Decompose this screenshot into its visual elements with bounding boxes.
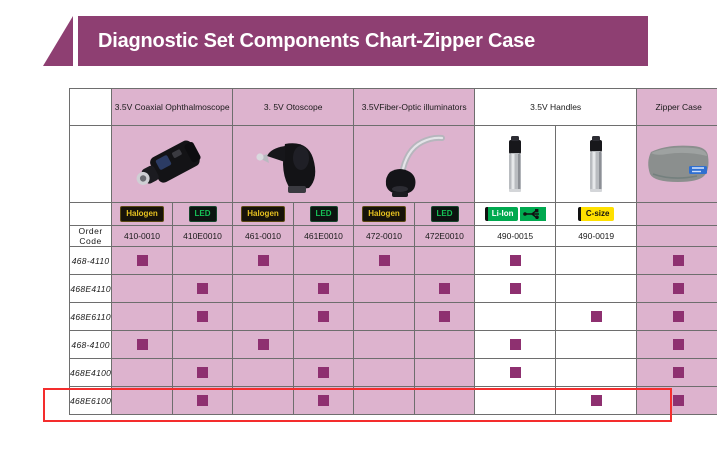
cell-mark <box>414 331 474 359</box>
badge-row-label-cell <box>70 203 112 226</box>
usb-icon <box>520 207 546 221</box>
banner-accent-triangle <box>43 16 73 66</box>
mark-dot <box>137 255 148 266</box>
cell-mark <box>172 331 232 359</box>
order-code-label: Order Code <box>70 226 112 247</box>
badge-cell-led-1: LED <box>172 203 232 226</box>
mark-dot <box>510 283 521 294</box>
mark-dot <box>439 311 450 322</box>
order-code-cell: 410E0010 <box>172 226 232 247</box>
mark-dot <box>318 395 329 406</box>
cell-mark <box>556 331 637 359</box>
table-order-code-row: Order Code 410-0010 410E0010 461-0010 46… <box>70 226 717 247</box>
cell-mark <box>112 387 173 415</box>
cell-mark <box>414 359 474 387</box>
mark-dot <box>137 339 148 350</box>
cell-mark <box>556 247 637 275</box>
page-title: Diagnostic Set Components Chart-Zipper C… <box>78 30 535 53</box>
cell-mark <box>112 247 173 275</box>
handle-c-size-icon <box>556 126 637 203</box>
mark-dot <box>439 283 450 294</box>
cell-mark <box>556 387 637 415</box>
mark-dot <box>197 311 208 322</box>
mark-dot <box>197 367 208 378</box>
badge-halogen: Halogen <box>241 206 285 222</box>
cell-mark <box>354 247 415 275</box>
cell-mark <box>556 303 637 331</box>
badge-halogen: Halogen <box>362 206 406 222</box>
cell-mark <box>112 275 173 303</box>
cell-mark <box>172 359 232 387</box>
ophthalmoscope-icon <box>112 126 233 203</box>
cell-mark <box>414 303 474 331</box>
badge-cell-c-size: C-size <box>556 203 637 226</box>
order-code-cell: 490-0015 <box>475 226 556 247</box>
cell-mark <box>354 359 415 387</box>
mark-dot <box>197 395 208 406</box>
badge-cell-halogen-3: Halogen <box>354 203 415 226</box>
badge-halogen: Halogen <box>120 206 164 222</box>
cell-mark <box>293 247 353 275</box>
mark-dot <box>673 367 684 378</box>
cell-mark <box>112 331 173 359</box>
cell-mark <box>233 247 294 275</box>
order-code-cell: 461-0010 <box>233 226 294 247</box>
cell-mark <box>637 331 717 359</box>
order-code-cell: 490-0019 <box>556 226 637 247</box>
badge-cell-led-2: LED <box>293 203 353 226</box>
handle-li-ion-icon <box>475 126 556 203</box>
banner-bar: Diagnostic Set Components Chart-Zipper C… <box>78 16 648 66</box>
table-row: 468E4100 <box>70 359 717 387</box>
table-row-highlighted: 468E6100 <box>70 387 717 415</box>
cell-mark <box>293 359 353 387</box>
cell-mark <box>112 359 173 387</box>
badge-li-ion: Li-Ion <box>485 207 518 221</box>
fiber-optic-illuminator-icon <box>354 126 475 203</box>
row-model-label: 468E4100 <box>70 359 112 387</box>
cell-mark <box>637 275 717 303</box>
cell-mark <box>233 303 294 331</box>
cell-mark <box>172 275 232 303</box>
badge-led: LED <box>189 206 217 222</box>
table-row: 468E4110 <box>70 275 717 303</box>
mark-dot <box>318 283 329 294</box>
mark-dot <box>379 255 390 266</box>
order-code-cell <box>637 226 717 247</box>
group-header-fiber-optic: 3.5VFiber-Optic illuminators <box>354 89 475 126</box>
cell-mark <box>556 275 637 303</box>
cell-mark <box>475 275 556 303</box>
mark-dot <box>673 339 684 350</box>
otoscope-icon <box>233 126 354 203</box>
cell-mark <box>172 303 232 331</box>
title-banner: Diagnostic Set Components Chart-Zipper C… <box>0 0 717 78</box>
image-row-label-cell <box>70 126 112 203</box>
mark-dot <box>318 311 329 322</box>
mark-dot <box>591 311 602 322</box>
badge-cell-led-3: LED <box>414 203 474 226</box>
badge-led: LED <box>310 206 338 222</box>
cell-mark <box>637 247 717 275</box>
table-group-header-row: 3.5V Coaxial Ophthalmoscope 3. 5V Otosco… <box>70 89 717 126</box>
cell-mark <box>637 303 717 331</box>
cell-mark <box>354 303 415 331</box>
cell-mark <box>233 331 294 359</box>
cell-mark <box>637 359 717 387</box>
cell-mark <box>293 275 353 303</box>
cell-mark <box>354 275 415 303</box>
mark-dot <box>318 367 329 378</box>
cell-mark <box>293 387 353 415</box>
row-model-label: 468E6110 <box>70 303 112 331</box>
mark-dot <box>673 395 684 406</box>
badge-cell-li-ion: Li-Ion <box>475 203 556 226</box>
cell-mark <box>354 331 415 359</box>
row-model-label: 468-4110 <box>70 247 112 275</box>
cell-mark <box>475 331 556 359</box>
badge-c-size: C-size <box>578 207 615 221</box>
mark-dot <box>258 339 269 350</box>
order-code-cell: 472-0010 <box>354 226 415 247</box>
group-header-otoscope: 3. 5V Otoscope <box>233 89 354 126</box>
table-row: 468-4100 <box>70 331 717 359</box>
cell-mark <box>354 387 415 415</box>
badge-cell-halogen-1: Halogen <box>112 203 173 226</box>
cell-mark <box>293 303 353 331</box>
cell-mark <box>233 275 294 303</box>
mark-dot <box>673 311 684 322</box>
group-header-handles: 3.5V Handles <box>475 89 637 126</box>
group-header-ophthalmoscope: 3.5V Coaxial Ophthalmoscope <box>112 89 233 126</box>
badge-cell-empty <box>637 203 717 226</box>
cell-mark <box>112 303 173 331</box>
cell-mark <box>414 247 474 275</box>
row-model-label: 468E4110 <box>70 275 112 303</box>
order-code-cell: 472E0010 <box>414 226 474 247</box>
cell-mark <box>233 387 294 415</box>
zipper-case-icon <box>637 126 717 203</box>
badge-led: LED <box>431 206 459 222</box>
table-badge-row: Halogen LED Halogen LED Halogen LED Li-I… <box>70 203 717 226</box>
mark-dot <box>510 255 521 266</box>
cell-mark <box>475 387 556 415</box>
cell-mark <box>414 275 474 303</box>
order-code-cell: 461E0010 <box>293 226 353 247</box>
table-row: 468E6110 <box>70 303 717 331</box>
cell-mark <box>293 331 353 359</box>
row-model-label: 468-4100 <box>70 331 112 359</box>
group-header-zipper-case: Zipper Case <box>637 89 717 126</box>
cell-mark <box>556 359 637 387</box>
cell-mark <box>414 387 474 415</box>
mark-dot <box>510 367 521 378</box>
cell-mark <box>475 359 556 387</box>
mark-dot <box>258 255 269 266</box>
order-code-cell: 410-0010 <box>112 226 173 247</box>
mark-dot <box>510 339 521 350</box>
cell-mark <box>475 247 556 275</box>
cell-mark <box>172 387 232 415</box>
mark-dot <box>673 283 684 294</box>
cell-mark <box>637 387 717 415</box>
cell-mark <box>233 359 294 387</box>
cell-mark <box>475 303 556 331</box>
badge-cell-halogen-2: Halogen <box>233 203 294 226</box>
cell-mark <box>172 247 232 275</box>
mark-dot <box>591 395 602 406</box>
table-product-image-row <box>70 126 717 203</box>
mark-dot <box>673 255 684 266</box>
table-row: 468-4110 <box>70 247 717 275</box>
components-chart-table: 3.5V Coaxial Ophthalmoscope 3. 5V Otosco… <box>69 88 717 415</box>
table-corner-cell <box>70 89 112 126</box>
mark-dot <box>197 283 208 294</box>
row-model-label: 468E6100 <box>70 387 112 415</box>
